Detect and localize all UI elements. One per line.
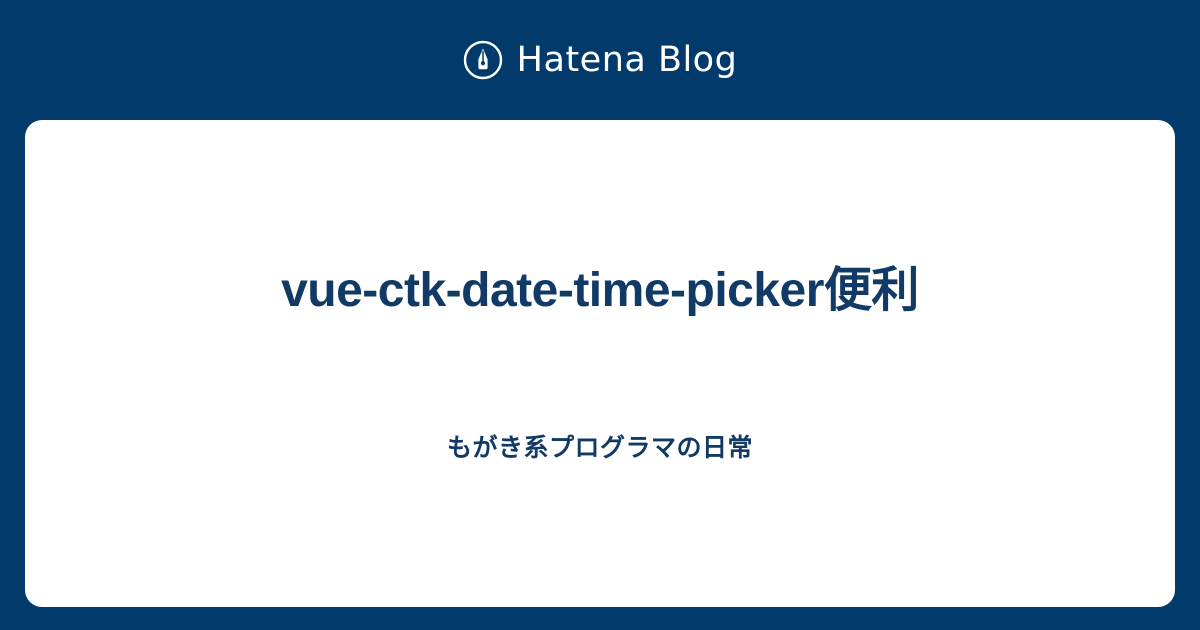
entry-card: vue-ctk-date-time-picker便利 もがき系プログラマの日常: [25, 120, 1175, 607]
brand-header: Hatena Blog: [0, 0, 1200, 120]
entry-title: vue-ctk-date-time-picker便利: [281, 262, 919, 320]
hatena-blog-service-name: Hatena Blog: [517, 43, 738, 78]
blog-name: もがき系プログラマの日常: [447, 432, 753, 465]
hatena-blog-logo[interactable]: [463, 40, 503, 80]
fountain-pen-nib-in-circle-icon: [463, 40, 503, 80]
